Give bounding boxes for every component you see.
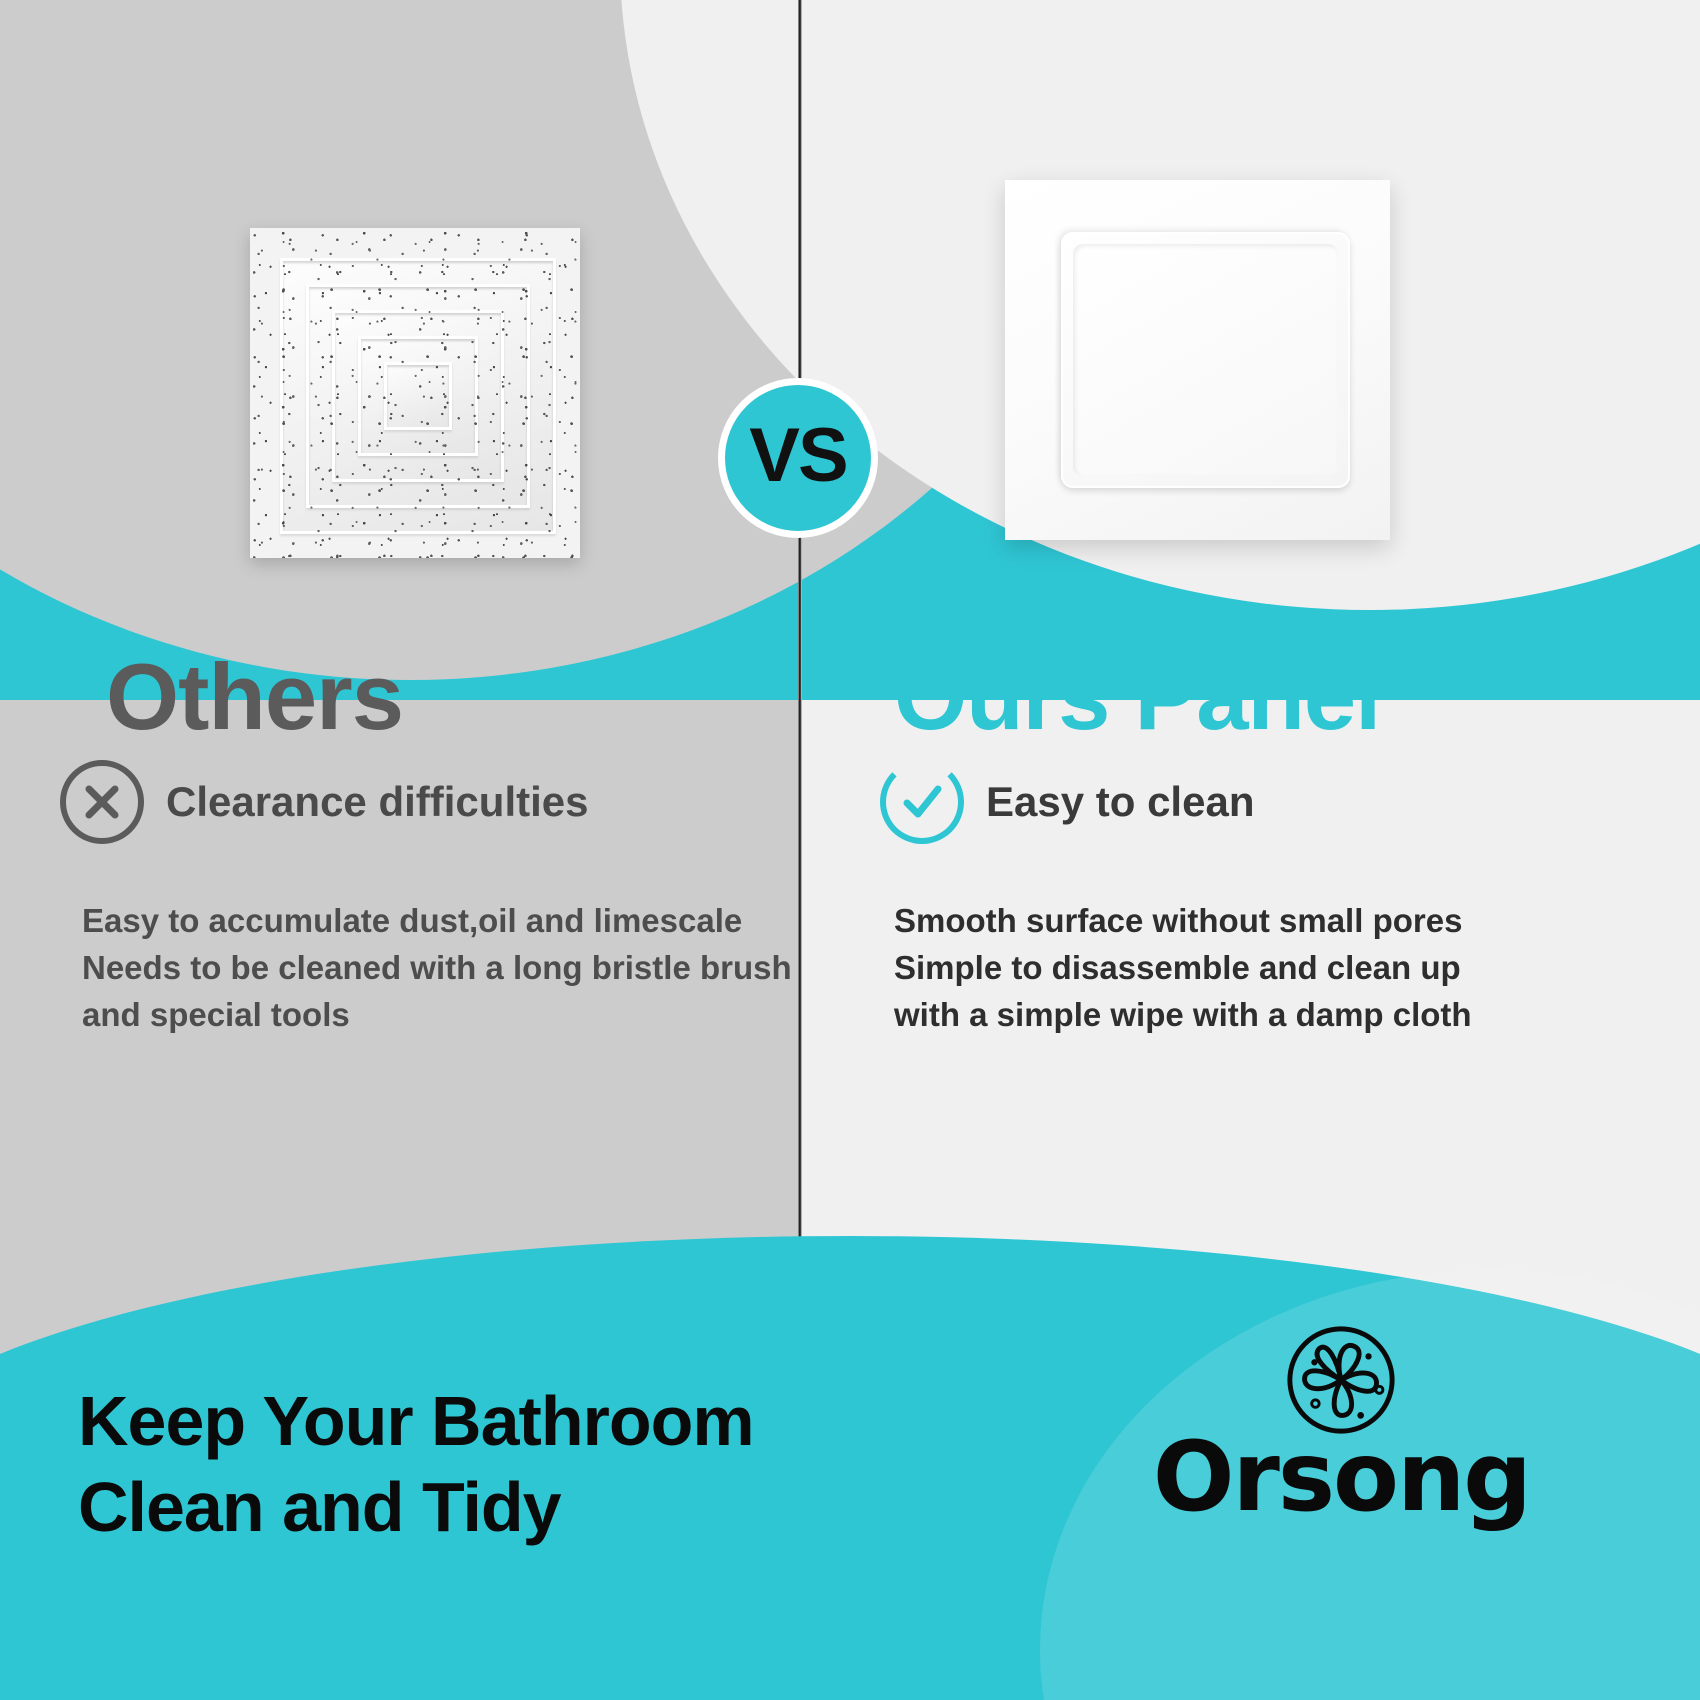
ours-feature-label: Easy to clean [986, 779, 1254, 825]
ours-body-line-1: Smooth surface without small pores [894, 898, 1620, 945]
ours-body-text: Smooth surface without small pores Simpl… [894, 898, 1620, 1039]
ours-body-line-2: Simple to disassemble and clean up [894, 945, 1620, 992]
others-feature-label: Clearance difficulties [166, 779, 588, 825]
others-product-image [250, 228, 580, 558]
others-body-line-1: Easy to accumulate dust,oil and limescal… [82, 898, 780, 945]
vs-badge: VS [718, 378, 878, 538]
tagline: Keep Your Bathroom Clean and Tidy [78, 1379, 754, 1550]
tagline-line-1: Keep Your Bathroom [78, 1379, 754, 1464]
others-body-line-3: and special tools [82, 992, 780, 1039]
ours-feature-row: Easy to clean [880, 760, 1620, 844]
comparison-infographic: VS Others Clearance difficulties Easy to… [0, 0, 1700, 1700]
panel-inner-face [1073, 244, 1338, 476]
ours-content-column: Ours Panel Easy to clean Smooth surface … [880, 650, 1620, 1039]
ours-heading: Ours Panel [894, 650, 1620, 744]
panel-bevel [1061, 232, 1350, 488]
ours-product-image [1005, 180, 1390, 540]
ours-body-line-3: with a simple wipe with a damp cloth [894, 992, 1620, 1039]
brand-name: Orsong [1153, 1429, 1530, 1525]
brand-lockup: Orsong [1153, 1321, 1530, 1525]
cross-circle-icon [60, 760, 144, 844]
tagline-line-2: Clean and Tidy [78, 1465, 754, 1550]
check-circle-icon [880, 760, 964, 844]
others-feature-row: Clearance difficulties [60, 760, 780, 844]
others-body-text: Easy to accumulate dust,oil and limescal… [82, 898, 780, 1039]
others-heading: Others [106, 650, 780, 744]
others-body-line-2: Needs to be cleaned with a long bristle … [82, 945, 780, 992]
vs-label: VS [749, 418, 846, 494]
others-content-column: Others Clearance difficulties Easy to ac… [60, 650, 780, 1039]
panel-divider [798, 0, 802, 1310]
